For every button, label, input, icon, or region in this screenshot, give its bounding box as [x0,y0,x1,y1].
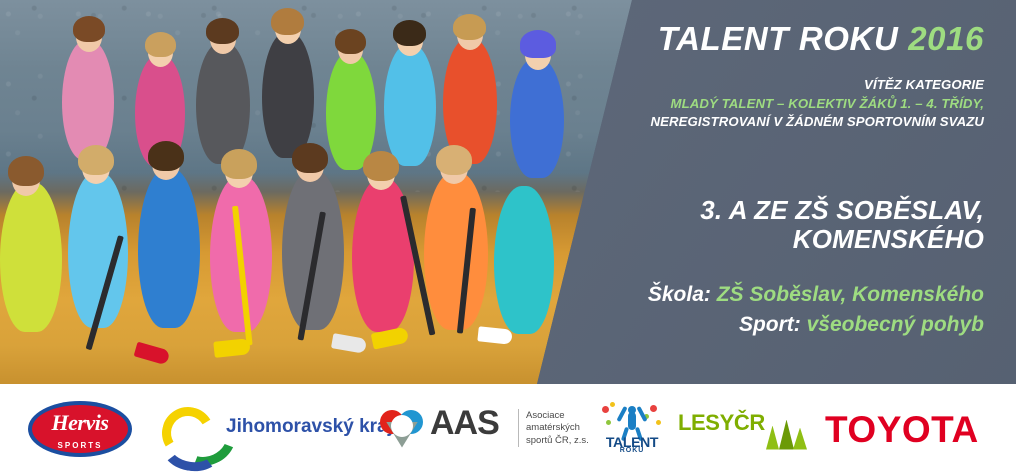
aas-sub-line-1: Asociace [526,410,589,423]
title-main-text: TALENT ROKU [658,20,899,57]
talent-roku-logo: TALENT ROKU [598,400,666,458]
hervis-tagline: SPORTS [28,441,132,450]
child-hair [363,151,399,181]
category-subtitle: VÍTĚZ KATEGORIE MLADÝ TALENT – KOLEKTIV … [564,76,984,132]
subtitle-line-2: MLADÝ TALENT – KOLEKTIV ŽÁKŮ 1. – 4. TŘÍ… [564,95,984,114]
child-hair [221,149,257,179]
child-helmet [520,30,556,58]
title-year-text: 2016 [908,20,984,57]
child-hair [335,29,366,54]
child-hair [78,145,114,175]
figure-arm-right [636,405,647,421]
winner-name: 3. A ZE ZŠ SOBĚSLAV, KOMENSKÉHO [564,196,984,255]
aas-logo: AAS Asociace amatérských sportů ČR, z.s. [380,404,580,454]
figure-body [628,412,636,430]
lesy-cr-logo: LESYČR [678,404,808,454]
tree-center [779,420,794,450]
child-figure [326,52,376,170]
child-figure [424,172,488,330]
child-figure [510,58,564,178]
poster-title: TALENT ROKU 2016 [658,22,984,55]
confetti-dot [606,420,611,425]
aas-sub-line-2: amatérských [526,422,589,435]
sport-label: Sport: [739,313,801,336]
figure-arm-left [616,405,627,421]
aas-subtitle: Asociace amatérských sportů ČR, z.s. [526,410,589,448]
school-value: ZŠ Soběslav, Komenského [717,283,984,306]
jumping-figure-icon [615,402,649,436]
sport-value: všeobecný pohyb [807,313,984,336]
child-figure [0,182,62,332]
poster-root: TALENT ROKU 2016 VÍTĚZ KATEGORIE MLADÝ T… [0,0,1016,473]
child-figure [138,168,200,328]
sport-row: Sport: všeobecný pohyb [564,310,984,340]
aas-wordmark: AAS [430,404,499,443]
jihomoravsky-kraj-logo: Jihomoravský kraj [160,403,360,455]
subtitle-line-1: VÍTĚZ KATEGORIE [564,76,984,95]
child-hair [271,8,304,35]
child-figure [384,44,436,166]
aas-sub-line-3: sportů ČR, z.s. [526,435,589,448]
child-hair [292,143,328,173]
child-hair [8,156,44,186]
child-figure [196,42,250,164]
confetti-dot [650,405,657,412]
school-row: Škola: ZŠ Soběslav, Komenského [564,280,984,310]
tree-left [766,426,779,450]
lesy-wordmark: LESYČR [678,410,765,436]
child-hair [453,14,486,40]
panel-content: TALENT ROKU 2016 VÍTĚZ KATEGORIE MLADÝ T… [560,0,1000,384]
sponsor-bar: Hervis SPORTS Jihomoravský kraj AAS Asoc… [0,384,1016,473]
school-label: Škola: [648,283,711,306]
child-figure [494,186,554,334]
confetti-dot [656,420,661,425]
subtitle-line-3: NEREGISTROVANÍ V ŽÁDNÉM SPORTOVNÍM SVAZU [564,113,984,132]
child-hair [436,145,472,175]
talent-subword: ROKU [598,447,666,454]
child-figure [62,40,114,160]
jmk-wordmark: Jihomoravský kraj [226,416,393,438]
toyota-wordmark: TOYOTA [825,409,979,451]
child-hair [145,32,176,57]
tree-icon [766,420,808,450]
toyota-logo: TOYOTA [825,409,990,449]
winner-details: Škola: ZŠ Soběslav, Komenského Sport: vš… [564,280,984,340]
confetti-dot [602,406,609,413]
child-hair [393,20,426,46]
jmk-arc-mark-icon [160,407,220,451]
child-hair [148,141,184,171]
child-hair [206,18,239,44]
child-hair [73,16,105,42]
hervis-wordmark: Hervis [28,410,132,436]
hero-stage: TALENT ROKU 2016 VÍTĚZ KATEGORIE MLADÝ T… [0,0,1016,384]
child-figure [262,32,314,158]
aas-heart-icon [380,408,426,450]
tree-right [793,428,807,450]
hervis-logo: Hervis SPORTS [28,401,132,457]
aas-divider [518,409,519,447]
